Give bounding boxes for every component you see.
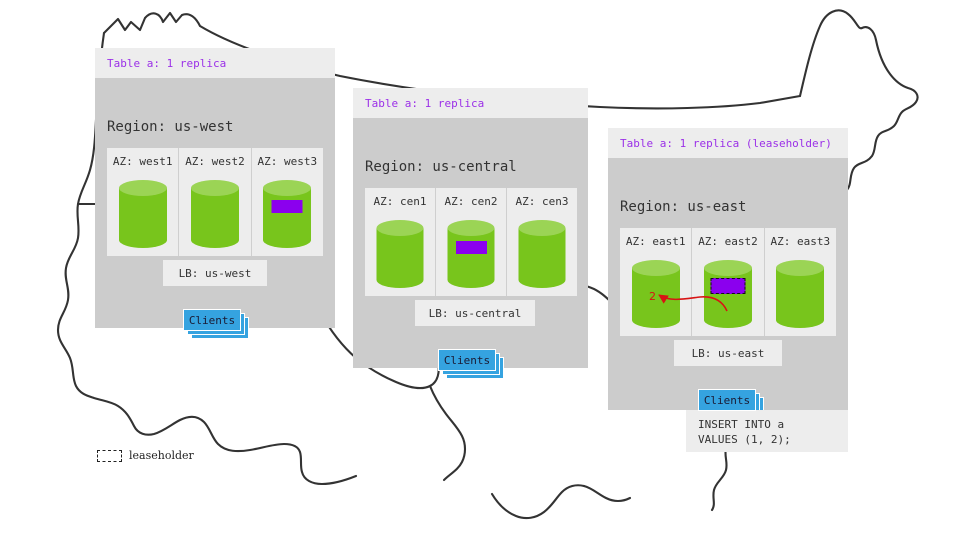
az-strip-us-central: AZ: cen1 AZ: cen2 [365, 188, 577, 296]
load-balancer-us-east[interactable]: LB: us-east [674, 340, 782, 366]
region-header-us-west: Table a: 1 replica [95, 48, 335, 78]
az-cell-west1[interactable]: AZ: west1 [107, 148, 179, 256]
az-label: AZ: east1 [620, 235, 691, 248]
arrow-step-label: 2 [649, 290, 656, 303]
region-panel-us-west: Table a: 1 replica Region: us-west AZ: w… [95, 48, 335, 328]
az-label: AZ: west3 [252, 155, 323, 168]
replica-marker [272, 200, 303, 213]
cylinder-top [377, 220, 424, 236]
region-panel-us-east: Table a: 1 replica (leaseholder) Region:… [608, 128, 848, 410]
node-cylinder[interactable] [263, 180, 311, 248]
table-replica-label: Table a: 1 replica [107, 57, 226, 70]
region-title: Region: us-west [107, 119, 233, 135]
region-header-us-east: Table a: 1 replica (leaseholder) [608, 128, 848, 158]
node-cylinder[interactable] [119, 180, 167, 248]
cylinder-top [119, 180, 167, 196]
cylinder-top [704, 260, 752, 276]
leaseholder-marker [710, 278, 745, 294]
az-strip-us-west: AZ: west1 AZ: west2 AZ [107, 148, 323, 256]
az-cell-cen1[interactable]: AZ: cen1 [365, 188, 436, 296]
region-title: Region: us-central [365, 159, 517, 175]
az-cell-cen3[interactable]: AZ: cen3 [507, 188, 577, 296]
az-cell-west3[interactable]: AZ: west3 [252, 148, 323, 256]
cylinder-top [632, 260, 680, 276]
lb-label: LB: us-east [692, 347, 765, 360]
load-balancer-us-central[interactable]: LB: us-central [415, 300, 535, 326]
region-body-us-east: Region: us-east AZ: east1 AZ: east2 [608, 158, 848, 410]
lb-label: LB: us-central [429, 307, 522, 320]
node-cylinder[interactable] [704, 260, 752, 328]
az-label: AZ: west1 [107, 155, 178, 168]
cylinder-top [519, 220, 566, 236]
node-cylinder[interactable] [519, 220, 566, 288]
region-body-us-west: Region: us-west AZ: west1 AZ: west2 [95, 78, 335, 328]
clients-stack-us-west[interactable]: Clients [183, 309, 249, 339]
cylinder-top [263, 180, 311, 196]
diagram-canvas: Table a: 1 replica Region: us-west AZ: w… [0, 0, 960, 540]
node-cylinder[interactable] [377, 220, 424, 288]
az-label: AZ: east3 [765, 235, 836, 248]
az-label: AZ: west2 [179, 155, 250, 168]
region-title: Region: us-east [620, 199, 746, 215]
node-cylinder[interactable] [448, 220, 495, 288]
az-label: AZ: east2 [692, 235, 763, 248]
az-label: AZ: cen3 [507, 195, 577, 208]
table-replica-label: Table a: 1 replica (leaseholder) [620, 137, 832, 150]
az-cell-east2[interactable]: AZ: east2 [692, 228, 764, 336]
region-header-us-central: Table a: 1 replica [353, 88, 588, 118]
dashed-rect-icon [97, 450, 122, 462]
az-cell-east3[interactable]: AZ: east3 [765, 228, 836, 336]
clients-button[interactable]: Clients [438, 349, 496, 371]
lb-label: LB: us-west [179, 267, 252, 280]
sql-statement-box: INSERT INTO a VALUES (1, 2); [686, 410, 848, 452]
node-cylinder[interactable] [776, 260, 824, 328]
cylinder-top [448, 220, 495, 236]
node-cylinder[interactable] [191, 180, 239, 248]
clients-label: Clients [704, 394, 750, 407]
legend-label: leaseholder [129, 449, 194, 462]
cylinder-top [191, 180, 239, 196]
cylinder-top [776, 260, 824, 276]
clients-label: Clients [189, 314, 235, 327]
clients-button[interactable]: Clients [183, 309, 241, 331]
region-panel-us-central: Table a: 1 replica Region: us-central AZ… [353, 88, 588, 368]
az-label: AZ: cen2 [436, 195, 506, 208]
clients-button[interactable]: Clients [698, 389, 756, 411]
az-strip-us-east: AZ: east1 AZ: east2 [620, 228, 836, 336]
region-body-us-central: Region: us-central AZ: cen1 AZ: cen2 [353, 118, 588, 368]
az-cell-east1[interactable]: AZ: east1 [620, 228, 692, 336]
legend: leaseholder [97, 449, 194, 462]
clients-stack-us-central[interactable]: Clients [438, 349, 504, 379]
load-balancer-us-west[interactable]: LB: us-west [163, 260, 267, 286]
az-cell-west2[interactable]: AZ: west2 [179, 148, 251, 256]
replica-marker [456, 241, 487, 254]
az-cell-cen2[interactable]: AZ: cen2 [436, 188, 507, 296]
clients-label: Clients [444, 354, 490, 367]
table-replica-label: Table a: 1 replica [365, 97, 484, 110]
az-label: AZ: cen1 [365, 195, 435, 208]
